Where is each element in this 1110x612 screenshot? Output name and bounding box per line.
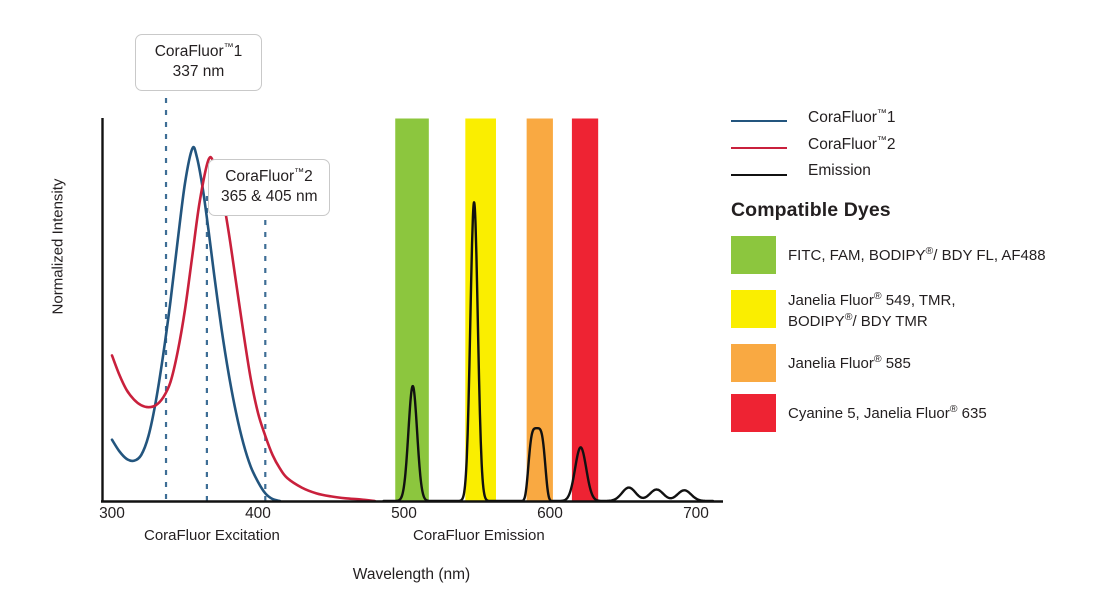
callout-corafluor-1: CoraFluor™1 337 nm	[135, 34, 262, 91]
y-axis-title: Normalized Intensity	[50, 162, 67, 332]
dye-color-swatch	[731, 290, 776, 328]
dye-row-4[interactable]: Cyanine 5, Janelia Fluor® 635	[731, 394, 1103, 434]
green-band	[395, 119, 429, 502]
legend-line-swatch	[731, 174, 787, 176]
legend-line-swatch	[731, 120, 787, 122]
red-band	[572, 119, 598, 502]
callout-1-value: 337 nm	[148, 62, 249, 82]
legend-line-swatch	[731, 147, 787, 149]
x-tick-600: 600	[520, 505, 580, 523]
callout-2-title: CoraFluor™2	[221, 167, 317, 187]
dye-row-3[interactable]: Janelia Fluor® 585	[731, 344, 1103, 384]
x-axis-section-emission: CoraFluor Emission	[413, 527, 545, 544]
x-axis-title: Wavelength (nm)	[0, 566, 823, 584]
callout-corafluor-2: CoraFluor™2 365 & 405 nm	[208, 159, 330, 216]
dye-label: Janelia Fluor® 549, TMR,BODIPY®/ BDY TMR	[788, 290, 956, 332]
dye-label: Cyanine 5, Janelia Fluor® 635	[788, 403, 987, 424]
dye-color-swatch	[731, 394, 776, 432]
dye-row-2[interactable]: Janelia Fluor® 549, TMR,BODIPY®/ BDY TMR	[731, 290, 1103, 330]
legend-item-label: CoraFluor™2	[808, 135, 896, 154]
legend-item-2[interactable]: CoraFluor™2	[731, 135, 1103, 162]
dye-label: Janelia Fluor® 585	[788, 353, 911, 374]
legend-item-label: Emission	[808, 162, 871, 180]
emission-bands-group	[395, 119, 598, 502]
dye-label: FITC, FAM, BODIPY®/ BDY FL, AF488	[788, 245, 1046, 266]
x-tick-700: 700	[666, 505, 726, 523]
dye-color-swatch	[731, 236, 776, 274]
dye-color-swatch	[731, 344, 776, 382]
x-axis-section-excitation: CoraFluor Excitation	[144, 527, 280, 544]
legend-item-label: CoraFluor™1	[808, 108, 896, 127]
dye-row-1[interactable]: FITC, FAM, BODIPY®/ BDY FL, AF488	[731, 236, 1103, 276]
compatible-dyes-title: Compatible Dyes	[731, 199, 891, 222]
x-tick-500: 500	[374, 505, 434, 523]
x-tick-300: 300	[82, 505, 142, 523]
callout-2-value: 365 & 405 nm	[221, 187, 317, 207]
x-tick-400: 400	[228, 505, 288, 523]
legend-item-1[interactable]: CoraFluor™1	[731, 108, 1103, 135]
legend-item-3[interactable]: Emission	[731, 162, 1103, 189]
callout-1-title: CoraFluor™1	[148, 42, 249, 62]
legend: CoraFluor™1CoraFluor™2Emission	[731, 108, 1103, 189]
fluorescence-spectra-figure: CoraFluor™1 337 nm CoraFluor™2 365 & 405…	[0, 0, 1110, 612]
